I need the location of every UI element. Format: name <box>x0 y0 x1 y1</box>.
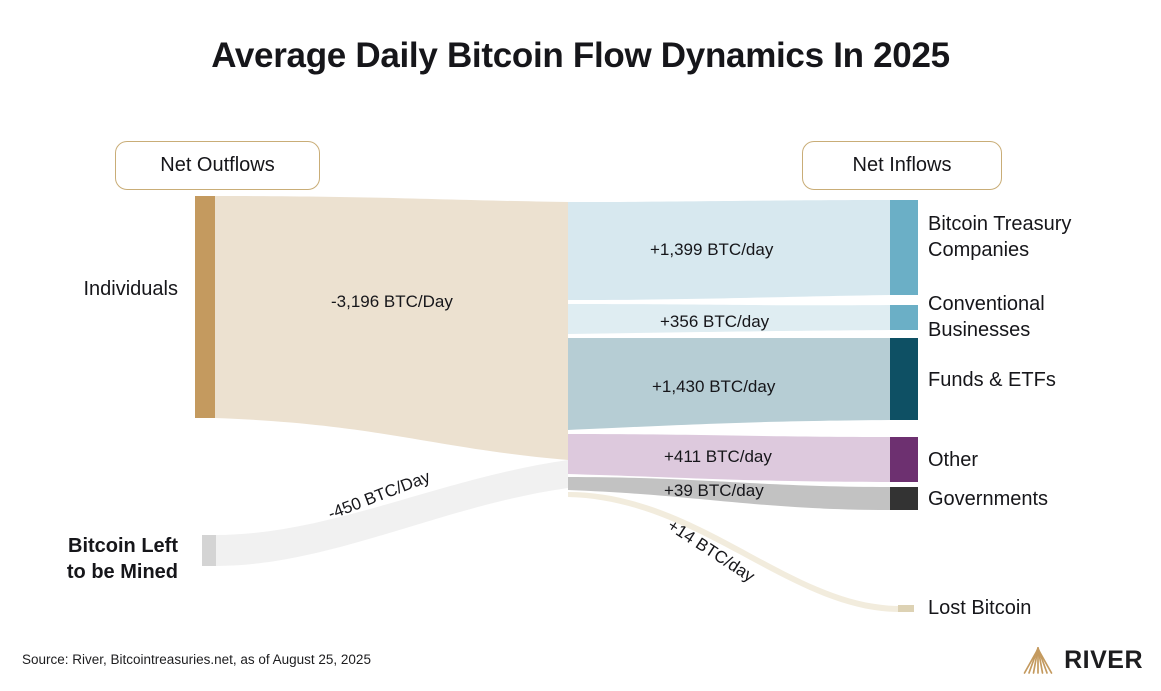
sankey-diagram <box>0 0 1161 691</box>
node-conventional-businesses <box>890 305 918 330</box>
node-bitcoin-left-to-be-mined <box>202 535 216 566</box>
node-label-funds-etfs: Funds & ETFs <box>928 368 1153 394</box>
node-label-treasury-line2: Companies <box>928 238 1153 264</box>
flow-value-individuals: -3,196 BTC/Day <box>331 292 453 312</box>
flow-value-bitcoin-treasury-companies: +1,399 BTC/day <box>650 240 773 260</box>
node-label-mined-line2: to be Mined <box>0 560 178 586</box>
node-label-bitcoin-left-to-be-mined: Bitcoin Left to be Mined <box>0 534 178 585</box>
flow-value-conventional-businesses: +356 BTC/day <box>660 312 769 332</box>
flow-value-governments: +39 BTC/day <box>664 481 764 501</box>
node-label-governments: Governments <box>928 487 1153 513</box>
node-label-conventional-line2: Businesses <box>928 318 1153 344</box>
flow-value-other: +411 BTC/day <box>664 447 772 467</box>
node-label-mined-line1: Bitcoin Left <box>0 534 178 560</box>
node-other <box>890 437 918 482</box>
node-label-bitcoin-treasury-companies: Bitcoin Treasury Companies <box>928 212 1153 263</box>
flow-bitcoin-left-to-be-mined <box>216 460 568 566</box>
node-individuals <box>195 196 215 418</box>
chart-canvas: Average Daily Bitcoin Flow Dynamics In 2… <box>0 0 1161 691</box>
node-label-treasury-line1: Bitcoin Treasury <box>928 212 1153 238</box>
flow-lost-bitcoin <box>568 492 900 612</box>
net-outflows-badge: Net Outflows <box>115 141 320 190</box>
node-funds-etfs <box>890 338 918 420</box>
node-label-other: Other <box>928 448 1153 474</box>
river-brand: RIVER <box>1021 645 1143 675</box>
node-label-conventional-line1: Conventional <box>928 292 1153 318</box>
node-label-conventional-businesses: Conventional Businesses <box>928 292 1153 343</box>
net-outflows-label: Net Outflows <box>160 154 274 177</box>
river-fan-logo-icon <box>1021 645 1055 675</box>
river-wordmark: RIVER <box>1064 646 1143 675</box>
node-lost-bitcoin <box>898 605 914 612</box>
node-governments <box>890 487 918 510</box>
node-bitcoin-treasury-companies <box>890 200 918 295</box>
source-note: Source: River, Bitcointreasuries.net, as… <box>22 652 371 667</box>
node-label-individuals: Individuals <box>0 277 178 303</box>
net-inflows-label: Net Inflows <box>853 154 952 177</box>
flow-value-funds-etfs: +1,430 BTC/day <box>652 377 775 397</box>
node-label-lost-bitcoin: Lost Bitcoin <box>928 596 1153 622</box>
net-inflows-badge: Net Inflows <box>802 141 1002 190</box>
flow-individuals <box>215 196 568 460</box>
